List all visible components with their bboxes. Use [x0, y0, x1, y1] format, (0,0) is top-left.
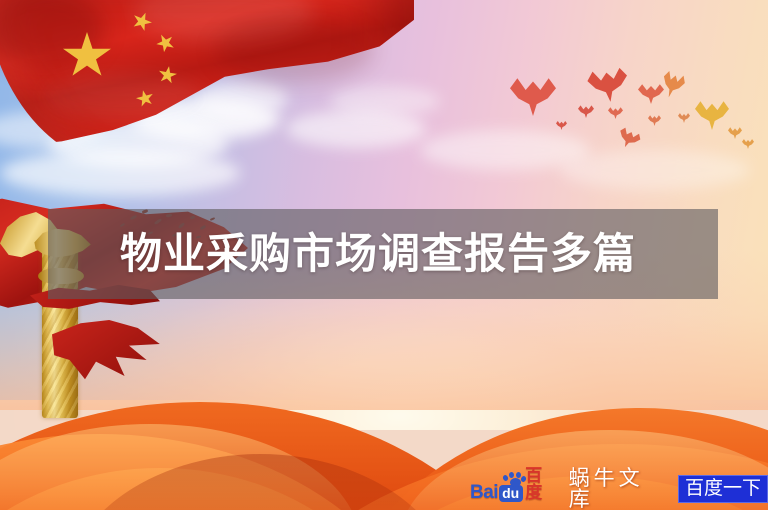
baidu-chinese-text: 百度	[525, 468, 558, 502]
flag-fold-shadow	[214, 18, 374, 82]
page-title: 物业采购市场调查报告多篇	[120, 224, 700, 284]
flag-fold-highlight	[44, 74, 204, 120]
baidu-du-badge: du	[499, 485, 523, 502]
baidu-logo[interactable]: Bai du 百度	[470, 476, 559, 502]
watermark-bar: Bai du 百度 蜗牛文库 百度一下	[470, 474, 768, 504]
china-national-flag	[0, 0, 414, 168]
baidu-bai-text: Bai	[470, 483, 498, 502]
cover-image: 物业采购市场调查报告多篇 Bai du 百度 蜗牛文库 百度一下	[0, 0, 768, 510]
baidu-paw-icon	[502, 473, 526, 489]
cloud	[560, 150, 750, 190]
site-brand-name: 蜗牛文库	[569, 468, 668, 510]
baidu-search-button[interactable]: 百度一下	[678, 475, 768, 504]
